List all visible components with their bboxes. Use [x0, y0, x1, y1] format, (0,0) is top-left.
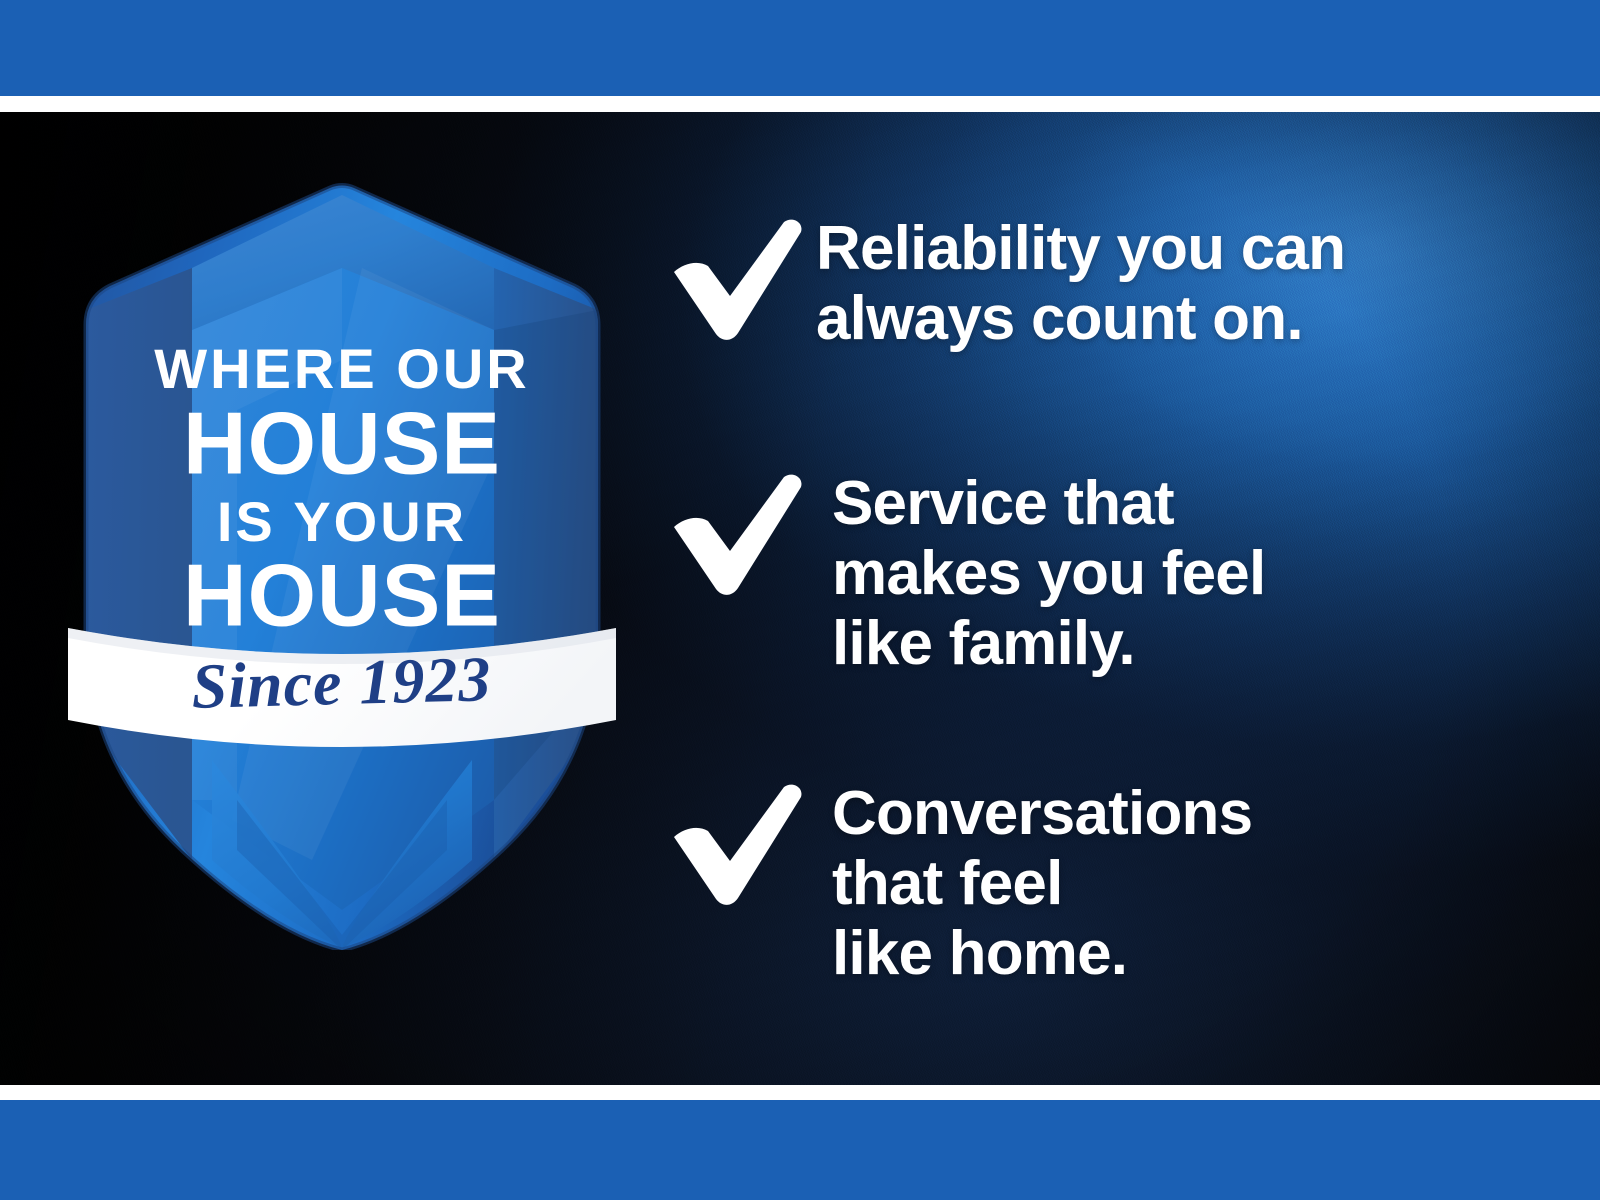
bottom-brand-bar [0, 1100, 1600, 1200]
list-item-text: Reliability you can always count on. [816, 212, 1568, 354]
since-year-text: Since 1923 [191, 643, 493, 722]
list-item-text: Service that makes you feel like family. [832, 467, 1568, 679]
list-item: Service that makes you feel like family. [668, 467, 1568, 679]
checkmark-icon [668, 216, 810, 344]
benefit-list: Reliability you can always count on. Ser… [668, 112, 1568, 1085]
list-item: Conversations that feel like home. [668, 777, 1568, 989]
logo-lockup-text: WHERE OUR HOUSE IS YOUR HOUSE [154, 337, 529, 644]
logo-line-3: HOUSE [183, 545, 501, 644]
logo-line-0: WHERE OUR [154, 337, 529, 400]
top-brand-bar [0, 0, 1600, 96]
checkmark-icon [668, 471, 810, 599]
list-item: Reliability you can always count on. [668, 212, 1568, 354]
checkmark-icon [668, 781, 810, 909]
logo-line-2: IS YOUR [217, 490, 467, 553]
logo-line-1: HOUSE [183, 393, 501, 492]
promo-graphic: WHERE OUR HOUSE IS YOUR HOUSE Since 1923 [0, 0, 1600, 1200]
logo-banner-text: Since 1923 [191, 643, 493, 722]
list-item-text: Conversations that feel like home. [832, 777, 1568, 989]
shield-logo: WHERE OUR HOUSE IS YOUR HOUSE Since 1923 [62, 160, 622, 950]
